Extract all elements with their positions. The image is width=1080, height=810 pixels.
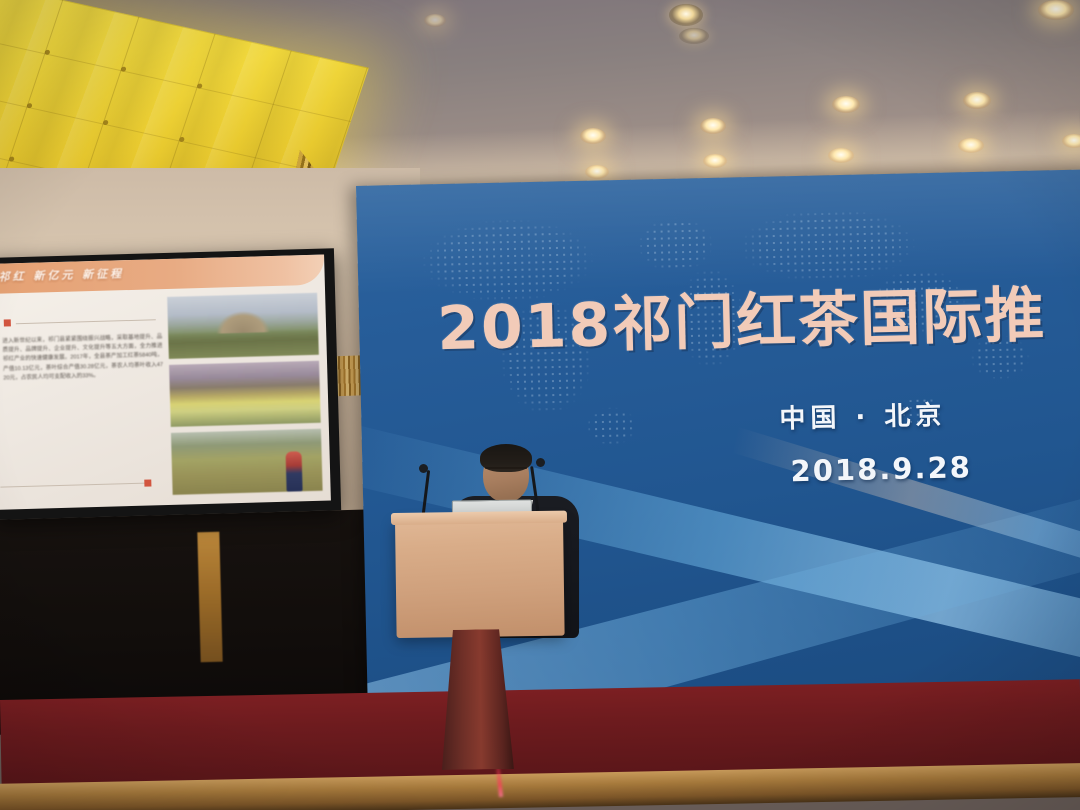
podium-top-surface <box>391 511 567 525</box>
ceiling-downlight <box>703 154 727 168</box>
backdrop-location: 中国 · 北京 <box>779 395 947 436</box>
microphone-head-right <box>536 458 545 467</box>
speaker-glasses <box>485 467 527 477</box>
podium-lectern <box>395 518 565 638</box>
slide-divider-bottom <box>0 482 150 487</box>
ceiling-downlight <box>669 4 703 26</box>
backdrop-date: 2018.9.28 <box>790 450 972 488</box>
ceiling-downlight <box>828 148 854 163</box>
presentation-slide: 祁红 新亿元 新征程 进入新世纪以来，祁门县紧紧围绕振兴战略，采取基地提升、品质… <box>0 255 331 510</box>
ceiling-downlight <box>1062 134 1080 148</box>
stage-photo-scene: 祁红 新亿元 新征程 进入新世纪以来，祁门县紧紧围绕振兴战略，采取基地提升、品质… <box>0 0 1080 810</box>
ceiling-downlight <box>700 118 726 134</box>
ceiling-downlight <box>424 14 446 27</box>
microphone-head-left <box>419 464 428 473</box>
ceiling-downlight <box>963 92 991 109</box>
slide-photo-stack <box>167 293 323 501</box>
backdrop-title: 2018祁门红茶国际推 <box>436 266 1047 367</box>
wood-accent-strip <box>197 532 222 663</box>
ceiling-downlight <box>580 128 606 144</box>
ceiling-downlight <box>958 138 984 153</box>
slide-photo-tea-terraces <box>169 361 321 427</box>
projection-screen: 祁红 新亿元 新征程 进入新世纪以来，祁门县紧紧围绕振兴战略，采取基地提升、品质… <box>0 248 341 520</box>
slide-divider-top <box>16 319 156 324</box>
slide-body-text: 进入新世纪以来，祁门县紧紧围绕振兴战略，采取基地提升、品质提升、品牌提升、企业提… <box>2 333 163 383</box>
ceiling-downlight <box>832 96 860 113</box>
slide-bullet-marker-bottom <box>144 479 151 486</box>
slide-bullet-marker-top <box>4 319 11 326</box>
slide-body: 进入新世纪以来，祁门县紧紧围绕振兴战略，采取基地提升、品质提升、品牌提升、企业提… <box>0 285 331 510</box>
slide-photo-tea-pavilion <box>167 293 319 359</box>
slide-photo-tea-pickers <box>171 429 323 495</box>
ceiling-downlight <box>679 28 709 44</box>
ceiling-downlight <box>1038 0 1074 20</box>
ceiling-downlight <box>585 165 609 179</box>
